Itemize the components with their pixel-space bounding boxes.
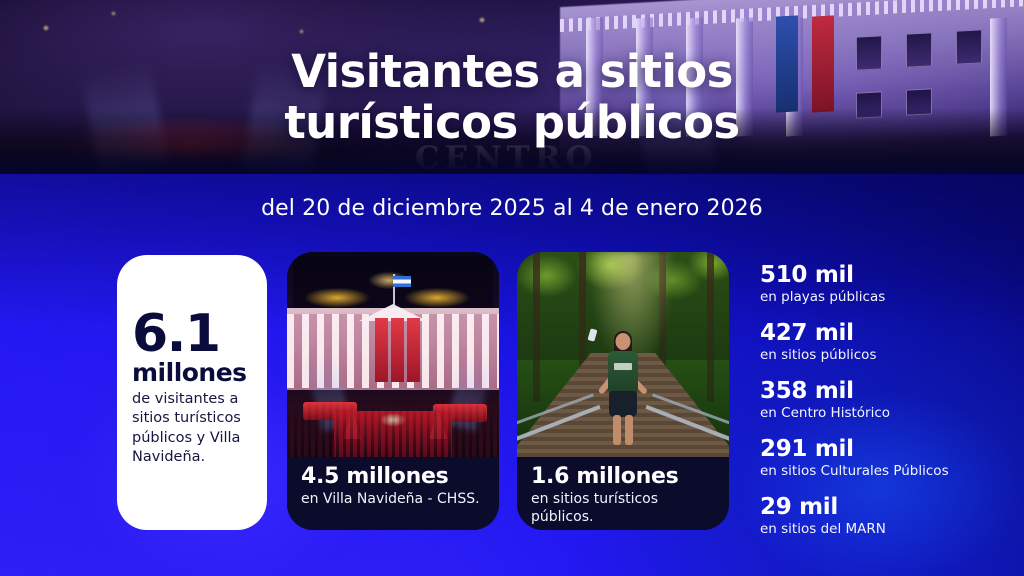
stat-item-culturales: 291 mil en sitios Culturales Públicos <box>760 436 1010 480</box>
villa-navidena-value: 4.5 millones <box>301 464 485 490</box>
forest-walkway-photo <box>517 252 729 457</box>
stat-item-marn: 29 mil en sitios del MARN <box>760 494 1010 538</box>
highlight-description: de visitantes a sitios turísticos públic… <box>132 390 252 468</box>
visitor-leg-right <box>625 415 633 445</box>
forest-scene <box>517 252 729 457</box>
photo-card-villa-navidena: 4.5 millones en Villa Navideña - CHSS. <box>287 252 499 530</box>
stat-label: en sitios del MARN <box>760 520 1010 538</box>
tree-trunk <box>707 252 714 402</box>
villa-navidena-label: en Villa Navideña - CHSS. <box>301 490 485 508</box>
highlight-stat-card: 6.1 millones de visitantes a sitios turí… <box>117 255 267 530</box>
stat-label: en sitios públicos <box>760 346 1010 364</box>
date-range-subtitle: del 20 de diciembre 2025 al 4 de enero 2… <box>0 196 1024 221</box>
visitor-shorts <box>609 391 637 417</box>
stat-value: 358 mil <box>760 378 1010 404</box>
plaza-crowd <box>287 399 499 457</box>
stat-value: 29 mil <box>760 494 1010 520</box>
infographic-poster: CENTRO Visitantes a sitios turísticos pú… <box>0 0 1024 576</box>
statistics-list: 510 mil en playas públicas 427 mil en si… <box>760 262 1010 538</box>
highlight-number: 6.1 <box>132 310 252 358</box>
palace-drape <box>391 318 404 382</box>
palace-flag <box>393 276 411 287</box>
page-title-line-2: turísticos públicos <box>0 97 1024 148</box>
villa-navidena-caption: 4.5 millones en Villa Navideña - CHSS. <box>287 457 499 530</box>
palace-night-scene <box>287 252 499 457</box>
stat-label: en Centro Histórico <box>760 404 1010 422</box>
photo-card-sitios-turisticos: 1.6 millones en sitios turísticos públic… <box>517 252 729 530</box>
highlight-unit: millones <box>132 359 252 386</box>
stat-value: 291 mil <box>760 436 1010 462</box>
stat-label: en playas públicas <box>760 288 1010 306</box>
page-title-line-1: Visitantes a sitios <box>0 46 1024 97</box>
stat-item-sitios-publicos: 427 mil en sitios públicos <box>760 320 1010 364</box>
stat-label: en sitios Culturales Públicos <box>760 462 1010 480</box>
stat-item-centro-historico: 358 mil en Centro Histórico <box>760 378 1010 422</box>
stat-value: 427 mil <box>760 320 1010 346</box>
visitor-leg-left <box>613 415 621 445</box>
visitor-shirt-logo <box>614 363 632 370</box>
visitor-taking-selfie <box>577 315 669 451</box>
palace-drape <box>407 318 420 382</box>
sitios-turisticos-label: en sitios turísticos públicos. <box>531 490 715 526</box>
villa-navidena-photo <box>287 252 499 457</box>
stat-value: 510 mil <box>760 262 1010 288</box>
palace-drape <box>375 318 388 382</box>
tree-trunk <box>533 252 540 402</box>
smartphone-icon <box>587 328 597 341</box>
page-title: Visitantes a sitios turísticos públicos <box>0 46 1024 148</box>
stat-item-playas: 510 mil en playas públicas <box>760 262 1010 306</box>
visitor-shirt <box>608 351 638 393</box>
sitios-turisticos-value: 1.6 millones <box>531 464 715 490</box>
visitor-head <box>616 333 631 350</box>
sitios-turisticos-caption: 1.6 millones en sitios turísticos públic… <box>517 457 729 530</box>
